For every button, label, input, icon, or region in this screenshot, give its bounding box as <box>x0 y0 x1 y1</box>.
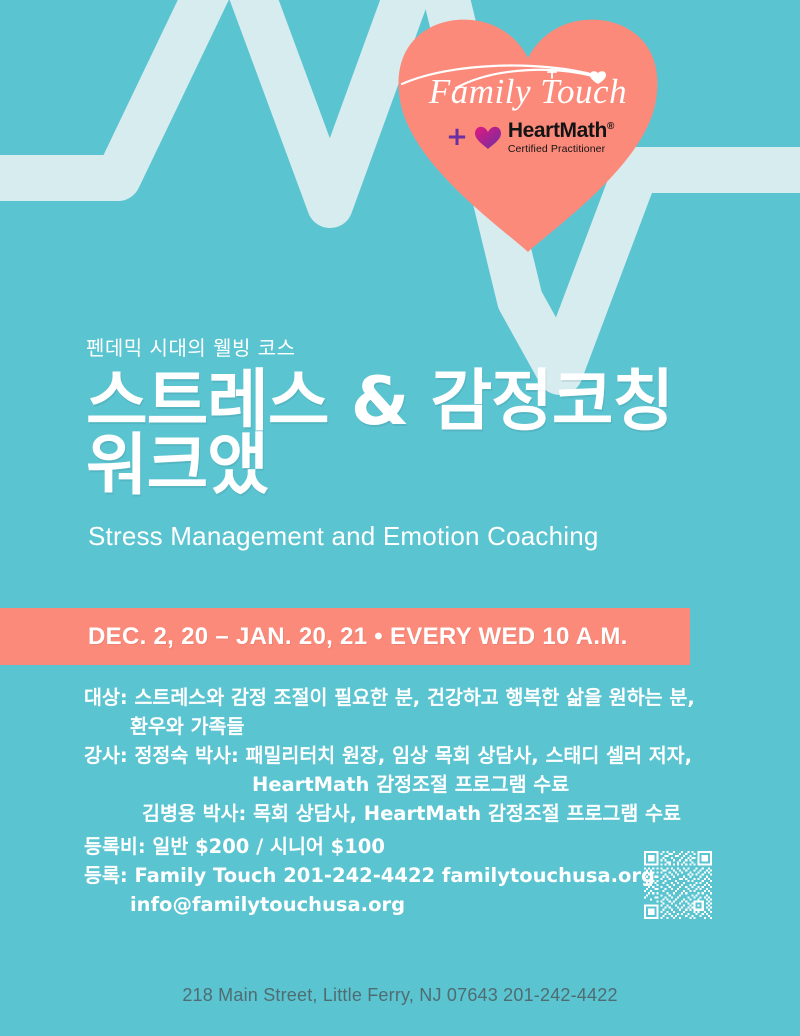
heartmath-heart-icon <box>474 125 502 150</box>
heartmath-subtitle: Certified Practitioner <box>508 144 614 155</box>
heartmath-logo: + HeartMath® Certified Practitioner <box>392 120 664 155</box>
logo-lockup: Family Touch + HeartMath® Certified Prac… <box>392 60 664 155</box>
page-title: 스트레스 & 감정코칭 워크앴 <box>86 370 726 497</box>
instructor-line-1: 강사: 정정숙 박사: 패밀리터치 원장, 임상 목회 상담사, 스태디 셀러 … <box>84 741 730 770</box>
registered-mark-icon: ® <box>607 121 614 132</box>
kicker-text: 펜데믹 시대의 웰빙 코스 <box>86 336 726 360</box>
audience-line-1: 대상: 스트레스와 감정 조절이 필요한 분, 건강하고 행복한 삶을 원하는 … <box>84 683 730 712</box>
audience-line-2: 환우와 가족들 <box>84 712 730 741</box>
instructor-line-2: HeartMath 감정조절 프로그램 수료 <box>84 770 730 799</box>
instructor-line-3: 김병용 박사: 목회 상담사, HeartMath 감정조절 프로그램 수료 <box>84 799 730 828</box>
fee-line: 등록비: 일반 $200 / 시니어 $100 <box>84 832 730 861</box>
family-touch-text: Family Touch <box>392 68 664 116</box>
brand-heart-badge: Family Touch + HeartMath® Certified Prac… <box>392 14 664 256</box>
date-banner: DEC. 2, 20 – JAN. 20, 21 • EVERY WED 10 … <box>0 608 690 665</box>
heartmath-text-block: HeartMath® Certified Practitioner <box>508 120 614 155</box>
footer-address: 218 Main Street, Little Ferry, NJ 07643 … <box>0 985 800 1006</box>
date-banner-text: DEC. 2, 20 – JAN. 20, 21 • EVERY WED 10 … <box>88 623 628 651</box>
plus-icon: + <box>446 127 468 147</box>
family-touch-wordmark: Family Touch <box>392 60 664 116</box>
qr-code[interactable] <box>644 851 712 919</box>
poster-canvas: Family Touch + HeartMath® Certified Prac… <box>0 0 800 1036</box>
title-line-2: 워크앴 <box>86 434 726 498</box>
headline-block: 펜데믹 시대의 웰빙 코스 스트레스 & 감정코칭 워크앴 Stress Man… <box>86 336 726 552</box>
heartmath-title: HeartMath® <box>508 119 614 142</box>
register-line: 등록: Family Touch 201-242-4422 familytouc… <box>84 861 730 890</box>
subtitle-english: Stress Management and Emotion Coaching <box>88 521 726 552</box>
email-line: info@familytouchusa.org <box>84 890 730 919</box>
